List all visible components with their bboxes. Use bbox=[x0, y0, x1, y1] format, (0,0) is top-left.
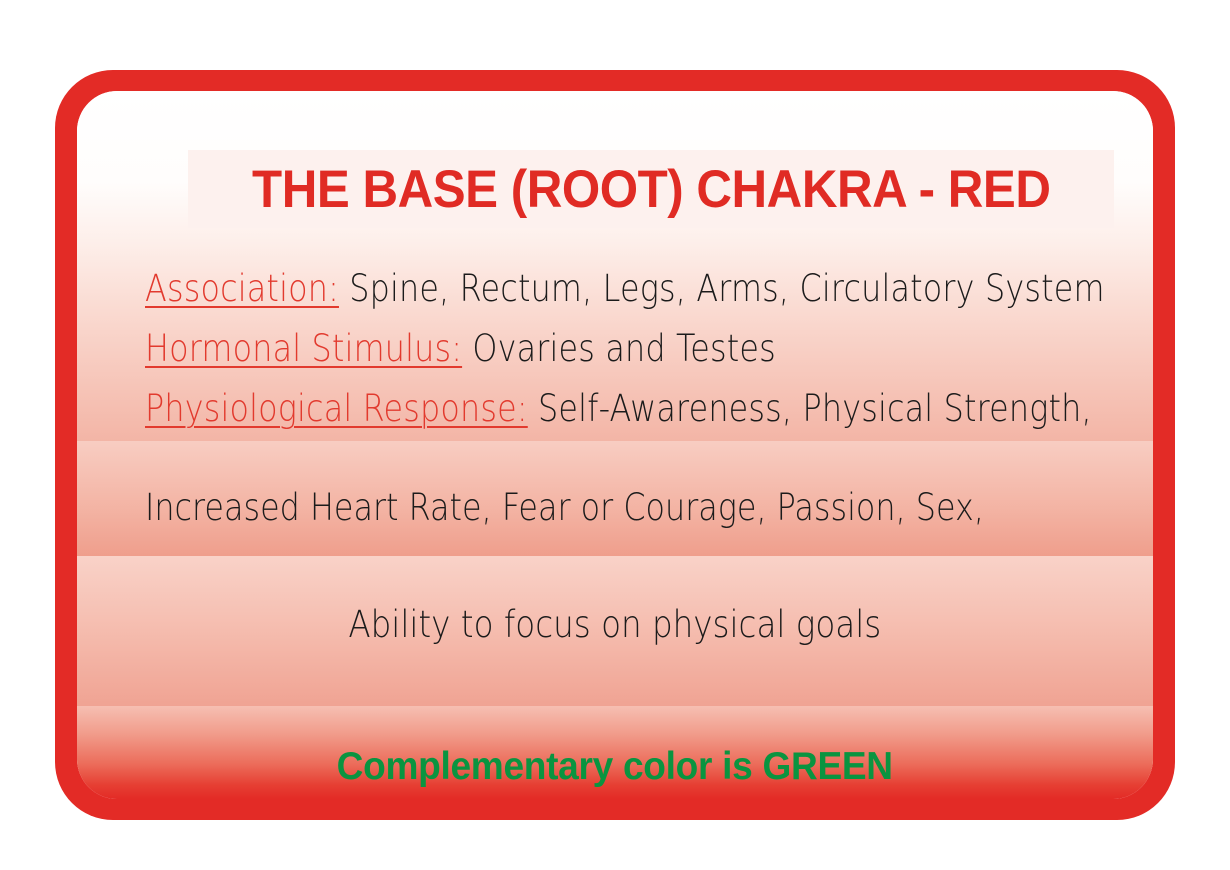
chakra-info-card: THE BASE (ROOT) CHAKRA - RED Association… bbox=[55, 70, 1175, 820]
card-content: THE BASE (ROOT) CHAKRA - RED Association… bbox=[77, 91, 1153, 799]
attribute-label-association: Association: bbox=[145, 267, 339, 310]
attribute-label-hormonal-stimulus: Hormonal Stimulus: bbox=[145, 327, 462, 370]
closing-statement: Ability to focus on physical goals bbox=[77, 606, 1153, 643]
attribute-label-physiological-response: Physiological Response: bbox=[145, 387, 528, 430]
closing-statement-text: Ability to focus on physical goals bbox=[349, 606, 882, 643]
attribute-value-hormonal-stimulus: Ovaries and Testes bbox=[472, 327, 775, 370]
screenshot-canvas: THE BASE (ROOT) CHAKRA - RED Association… bbox=[0, 0, 1230, 870]
attribute-list: Association: Spine, Rectum, Legs, Arms, … bbox=[145, 259, 1145, 439]
attribute-row-association: Association: Spine, Rectum, Legs, Arms, … bbox=[145, 259, 1005, 319]
physiological-response-continuation: Increased Heart Rate, Fear or Courage, P… bbox=[145, 489, 984, 526]
attribute-value-association: Spine, Rectum, Legs, Arms, Circulatory S… bbox=[349, 267, 1104, 310]
card-footer: Complementary color is GREEN bbox=[77, 747, 1153, 786]
complementary-color-note: Complementary color is GREEN bbox=[337, 747, 893, 786]
card-title-panel: THE BASE (ROOT) CHAKRA - RED bbox=[188, 150, 1114, 228]
page-title: THE BASE (ROOT) CHAKRA - RED bbox=[252, 163, 1050, 216]
attribute-row-hormonal-stimulus: Hormonal Stimulus: Ovaries and Testes bbox=[145, 319, 1005, 379]
attribute-row-physiological-response: Physiological Response: Self-Awareness, … bbox=[145, 379, 1005, 439]
attribute-value-physiological-response: Self-Awareness, Physical Strength, bbox=[538, 387, 1092, 430]
card-inner-surface: THE BASE (ROOT) CHAKRA - RED Association… bbox=[77, 91, 1153, 799]
